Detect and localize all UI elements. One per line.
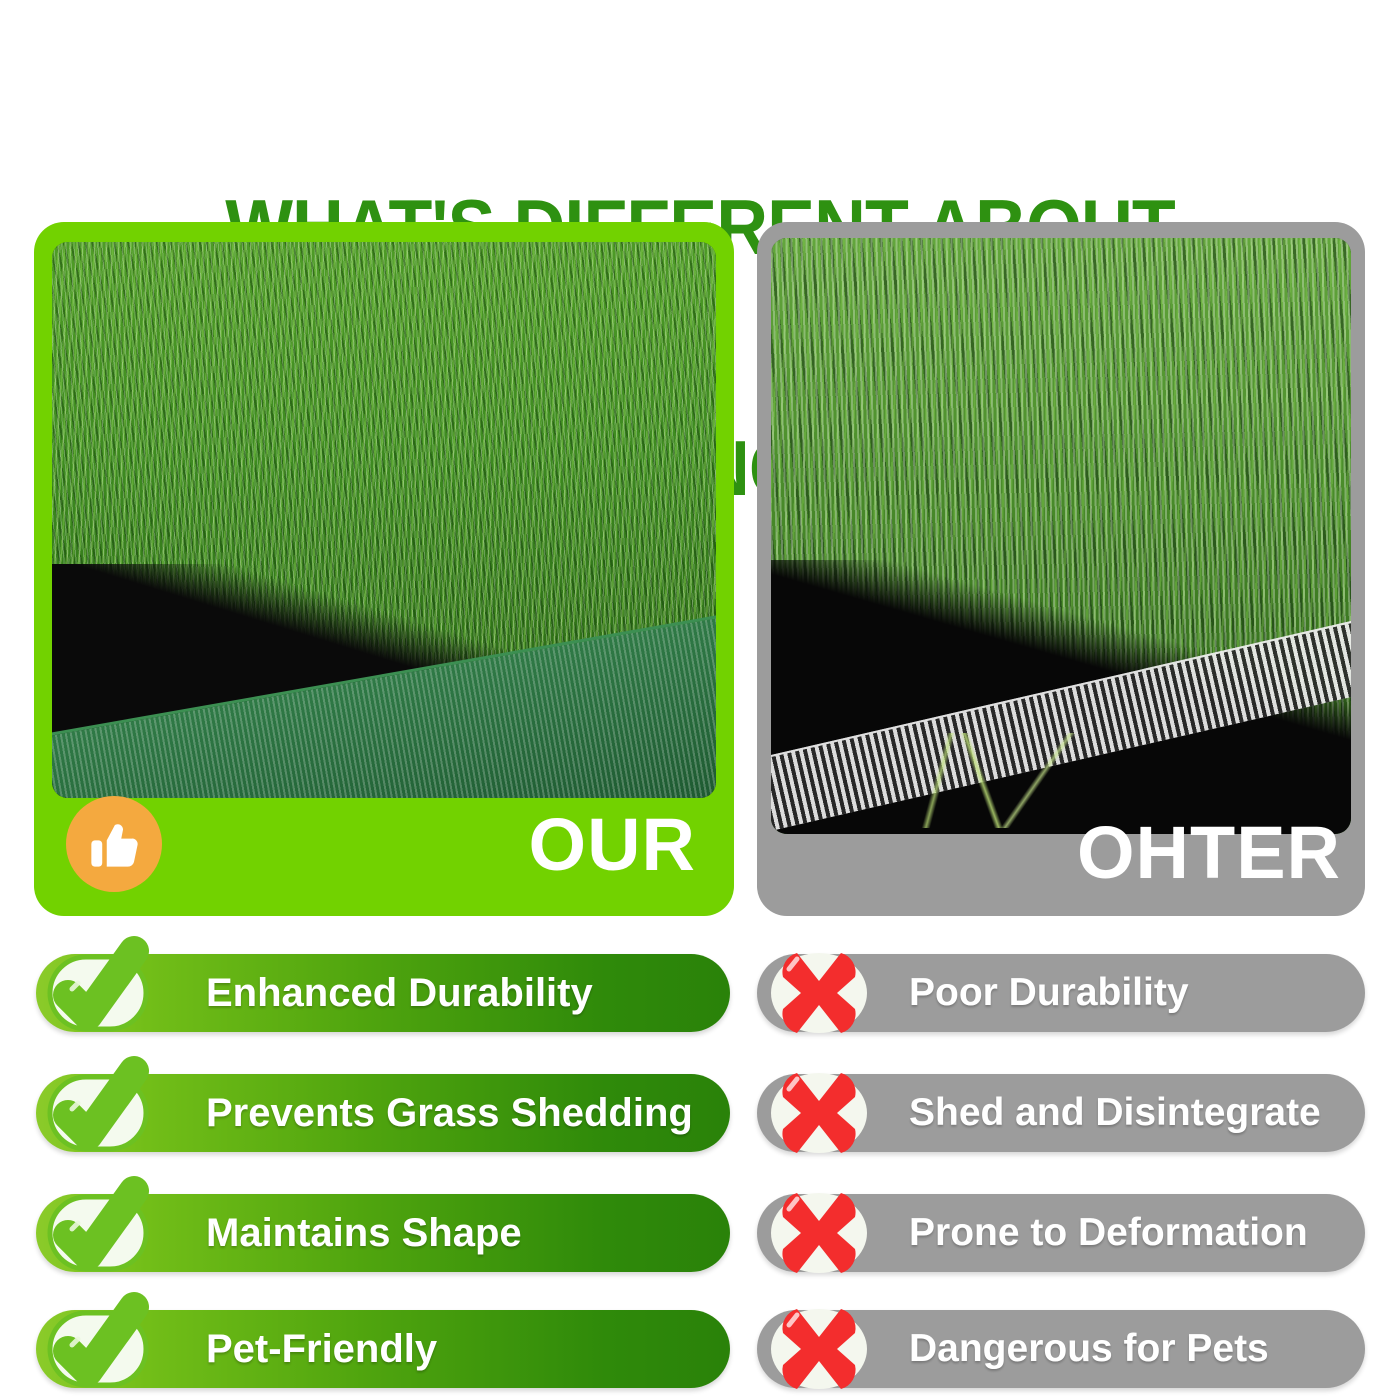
- pro-feature-pill[interactable]: Maintains Shape: [36, 1194, 730, 1272]
- feature-row: Maintains Shape Prone to Deformation: [0, 1194, 1400, 1272]
- pro-feature-label: Prevents Grass Shedding: [206, 1091, 693, 1136]
- panel-label-other: OHTER: [1077, 816, 1341, 890]
- cross-icon: [763, 1189, 875, 1277]
- product-photo-other: [771, 238, 1351, 834]
- product-photo-ours: [52, 242, 716, 798]
- feature-comparison-list: Enhanced Durability Poor Durability: [0, 946, 1400, 1386]
- cross-icon: [763, 1069, 875, 1157]
- panel-label-ours: OUR: [529, 808, 696, 882]
- pro-feature-pill[interactable]: Pet-Friendly: [36, 1310, 730, 1388]
- check-icon: [42, 1069, 154, 1157]
- panel-ours: OUR: [34, 222, 734, 916]
- con-feature-label: Dangerous for Pets: [909, 1327, 1269, 1371]
- check-icon: [42, 1189, 154, 1277]
- con-feature-pill[interactable]: Poor Durability: [757, 954, 1365, 1032]
- check-icon: [42, 1305, 154, 1393]
- thumbs-up-icon: [66, 796, 162, 892]
- feature-row: Enhanced Durability Poor Durability: [0, 954, 1400, 1032]
- con-feature-pill[interactable]: Dangerous for Pets: [757, 1310, 1365, 1388]
- con-feature-label: Poor Durability: [909, 971, 1189, 1015]
- con-feature-pill[interactable]: Prone to Deformation: [757, 1194, 1365, 1272]
- con-feature-label: Shed and Disintegrate: [909, 1091, 1321, 1135]
- pro-feature-pill[interactable]: Enhanced Durability: [36, 954, 730, 1032]
- cross-icon: [763, 1305, 875, 1393]
- check-icon: [42, 949, 154, 1037]
- feature-row: Prevents Grass Shedding Shed and Disinte…: [0, 1074, 1400, 1152]
- panel-other: OHTER: [757, 222, 1365, 916]
- feature-row: Pet-Friendly Dangerous for Pets: [0, 1310, 1400, 1388]
- pro-feature-label: Enhanced Durability: [206, 971, 593, 1016]
- pro-feature-label: Pet-Friendly: [206, 1327, 437, 1372]
- cross-icon: [763, 949, 875, 1037]
- pro-feature-label: Maintains Shape: [206, 1211, 522, 1256]
- con-feature-pill[interactable]: Shed and Disintegrate: [757, 1074, 1365, 1152]
- pro-feature-pill[interactable]: Prevents Grass Shedding: [36, 1074, 730, 1152]
- con-feature-label: Prone to Deformation: [909, 1211, 1308, 1255]
- comparison-panels: OUR OHTER: [0, 222, 1400, 922]
